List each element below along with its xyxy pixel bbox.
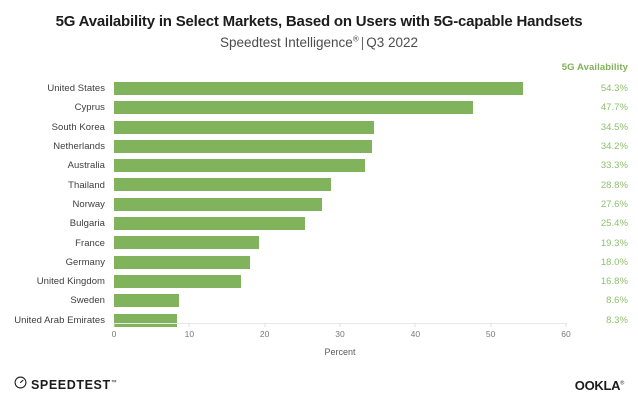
bar-category-label: Australia bbox=[0, 160, 114, 171]
bar-row: United States54.3% bbox=[0, 79, 638, 98]
bar-value-label: 27.6% bbox=[520, 199, 628, 210]
bar-value-label: 33.3% bbox=[520, 160, 628, 171]
bar-value-label: 28.8% bbox=[520, 180, 628, 191]
bar-value-label: 47.7% bbox=[520, 102, 628, 113]
bar-track bbox=[114, 214, 566, 233]
x-axis-tick bbox=[189, 323, 190, 327]
bar-track bbox=[114, 79, 566, 98]
bar-row: Germany18.0% bbox=[0, 253, 638, 272]
bar-value-label: 19.3% bbox=[520, 238, 628, 249]
x-axis-tick bbox=[415, 323, 416, 327]
bar-category-label: United Kingdom bbox=[0, 276, 114, 287]
bar-row: Cyprus47.7% bbox=[0, 98, 638, 117]
x-axis-tick bbox=[490, 323, 491, 327]
bar bbox=[114, 178, 331, 191]
bar-value-label: 16.8% bbox=[520, 276, 628, 287]
bar-value-label: 25.4% bbox=[520, 218, 628, 229]
page-title: 5G Availability in Select Markets, Based… bbox=[0, 13, 638, 32]
bar-row: France19.3% bbox=[0, 233, 638, 252]
x-axis-tick-label: 30 bbox=[335, 329, 344, 339]
x-axis-tick-label: 10 bbox=[185, 329, 194, 339]
bar bbox=[114, 275, 241, 288]
bar-category-label: Bulgaria bbox=[0, 218, 114, 229]
bar bbox=[114, 294, 179, 307]
subtitle-period: Q3 2022 bbox=[366, 35, 418, 50]
speedtest-wordmark: SPEEDTEST™ bbox=[31, 378, 117, 392]
x-axis-tick-label: 60 bbox=[561, 329, 570, 339]
bar-value-label: 18.0% bbox=[520, 257, 628, 268]
bar-track bbox=[114, 175, 566, 194]
bar-value-label: 34.2% bbox=[520, 141, 628, 152]
x-axis-tick-label: 50 bbox=[486, 329, 495, 339]
bar-track bbox=[114, 291, 566, 310]
ookla-wordmark: OOKLA® bbox=[575, 378, 624, 393]
bar-row: Sweden8.6% bbox=[0, 291, 638, 310]
speedometer-icon bbox=[14, 376, 27, 394]
bar-row: Australia33.3% bbox=[0, 156, 638, 175]
bar bbox=[114, 101, 473, 114]
bar-category-label: Thailand bbox=[0, 180, 114, 191]
bar bbox=[114, 256, 250, 269]
bar-track bbox=[114, 98, 566, 117]
x-axis-tick-label: 0 bbox=[112, 329, 117, 339]
bar-track bbox=[114, 195, 566, 214]
bar-row: Norway27.6% bbox=[0, 195, 638, 214]
bar-value-label: 8.6% bbox=[520, 295, 628, 306]
x-axis-title: Percent bbox=[114, 347, 566, 357]
chart-subtitle: Speedtest Intelligence®|Q3 2022 bbox=[0, 35, 638, 51]
ookla-logo: OOKLA® bbox=[575, 378, 624, 393]
bar-value-label: 8.3% bbox=[520, 315, 628, 326]
bar-row: South Korea34.5% bbox=[0, 118, 638, 137]
bar bbox=[114, 314, 177, 327]
bar bbox=[114, 82, 523, 95]
bar-track bbox=[114, 253, 566, 272]
x-axis-tick bbox=[264, 323, 265, 327]
bar bbox=[114, 236, 259, 249]
bar-category-label: Netherlands bbox=[0, 141, 114, 152]
speedtest-logo: SPEEDTEST™ bbox=[14, 376, 117, 394]
bar-category-label: Germany bbox=[0, 257, 114, 268]
bar bbox=[114, 159, 365, 172]
bar-row: United Arab Emirates8.3% bbox=[0, 311, 638, 330]
registered-mark-icon: ® bbox=[353, 34, 359, 43]
bar-category-label: Norway bbox=[0, 199, 114, 210]
bar-row: Thailand28.8% bbox=[0, 175, 638, 194]
subtitle-source: Speedtest Intelligence bbox=[220, 35, 353, 50]
bar-row: Netherlands34.2% bbox=[0, 137, 638, 156]
x-axis: 0102030405060 bbox=[114, 323, 566, 324]
bar-track bbox=[114, 233, 566, 252]
bar-track bbox=[114, 137, 566, 156]
x-axis-tick bbox=[340, 323, 341, 327]
bar-value-label: 54.3% bbox=[520, 83, 628, 94]
x-axis-tick-label: 40 bbox=[411, 329, 420, 339]
bar-category-label: South Korea bbox=[0, 122, 114, 133]
bar-category-label: France bbox=[0, 238, 114, 249]
x-axis-tick-label: 20 bbox=[260, 329, 269, 339]
bar bbox=[114, 140, 372, 153]
value-column-header: 5G Availability bbox=[520, 62, 628, 73]
bar-track bbox=[114, 272, 566, 291]
x-axis-tick bbox=[566, 323, 567, 327]
bar-row: Bulgaria25.4% bbox=[0, 214, 638, 233]
bar bbox=[114, 121, 374, 134]
bar-value-label: 34.5% bbox=[520, 122, 628, 133]
chart-footer: SPEEDTEST™ OOKLA® bbox=[0, 368, 638, 409]
bar-row: United Kingdom16.8% bbox=[0, 272, 638, 291]
bar-chart-plot-area: United States54.3%Cyprus47.7%South Korea… bbox=[0, 79, 638, 323]
chart-header: 5G Availability in Select Markets, Based… bbox=[0, 0, 638, 51]
bar-track bbox=[114, 156, 566, 175]
x-axis-tick bbox=[114, 323, 115, 327]
bar-category-label: United States bbox=[0, 83, 114, 94]
bar bbox=[114, 217, 305, 230]
bar-category-label: Sweden bbox=[0, 295, 114, 306]
bar-track bbox=[114, 118, 566, 137]
bar-category-label: United Arab Emirates bbox=[0, 315, 114, 326]
bar-category-label: Cyprus bbox=[0, 102, 114, 113]
bar bbox=[114, 198, 322, 211]
